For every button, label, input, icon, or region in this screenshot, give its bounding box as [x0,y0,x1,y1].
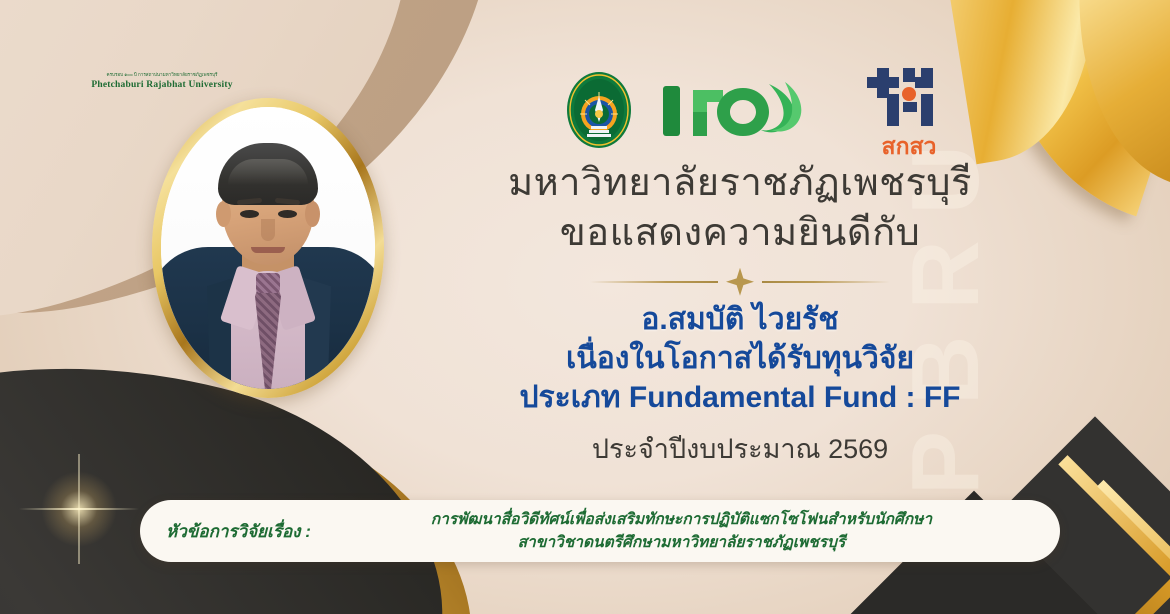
divider-line-right [762,281,890,283]
university-name-en: ครบรอบ ๑๐๐ ปี การสถาปนามหาวิทยาลัยราชภัฏ… [62,72,262,90]
congratulations-banner: PBRU [0,0,1170,614]
research-title-line2: สาขาวิชาดนตรีศึกษามหาวิทยาลัยราชภัฏเพชรบ… [329,531,1034,554]
research-title-label: หัวข้อการวิจัยเรื่อง : [166,518,329,545]
university-name-en-text: Phetchaburi Rajabhat University [91,80,232,90]
tsri-sakasawo-logo-icon: สกสว [863,64,955,156]
research-title-text: การพัฒนาสื่อวิดีทัศน์เพื่อส่งเสริมทักษะก… [329,508,1034,555]
honoree-name: อ.สมบัติ ไวยรัช [430,300,1050,339]
anniversary-100-logo [657,74,825,146]
phetchaburi-rajabhat-university-seal-icon [565,70,633,150]
heading-block: มหาวิทยาลัยราชภัฏเพชรบุรี ขอแสดงความยินด… [430,160,1050,295]
honoree-portrait [152,98,384,398]
heading-congratulations: ขอแสดงความยินดีกับ [430,210,1050,256]
logo-row: สกสว [565,62,895,158]
divider-line-left [590,281,718,283]
heading-university: มหาวิทยาลัยราชภัฏเพชรบุรี [430,160,1050,206]
diamond-ornament-icon [726,268,754,296]
honoree-block: อ.สมบัติ ไวยรัช เนื่องในโอกาสได้รับทุนวิ… [430,300,1050,470]
honoree-fund-type: ประเภท Fundamental Fund : FF [430,378,1050,417]
sparkle-icon [36,466,122,552]
honoree-fiscal-year: ประจำปีงบประมาณ 2569 [430,427,1050,470]
research-title-bar: หัวข้อการวิจัยเรื่อง : การพัฒนาสื่อวิดีท… [140,500,1060,562]
honoree-occasion: เนื่องในโอกาสได้รับทุนวิจัย [430,339,1050,378]
portrait-photo [161,107,375,389]
ornamental-divider [590,269,890,295]
university-name-th-small: ครบรอบ ๑๐๐ ปี การสถาปนามหาวิทยาลัยราชภัฏ… [62,72,262,79]
tsri-label: สกสว [863,135,955,158]
research-title-line1: การพัฒนาสื่อวิดีทัศน์เพื่อส่งเสริมทักษะก… [329,508,1034,531]
